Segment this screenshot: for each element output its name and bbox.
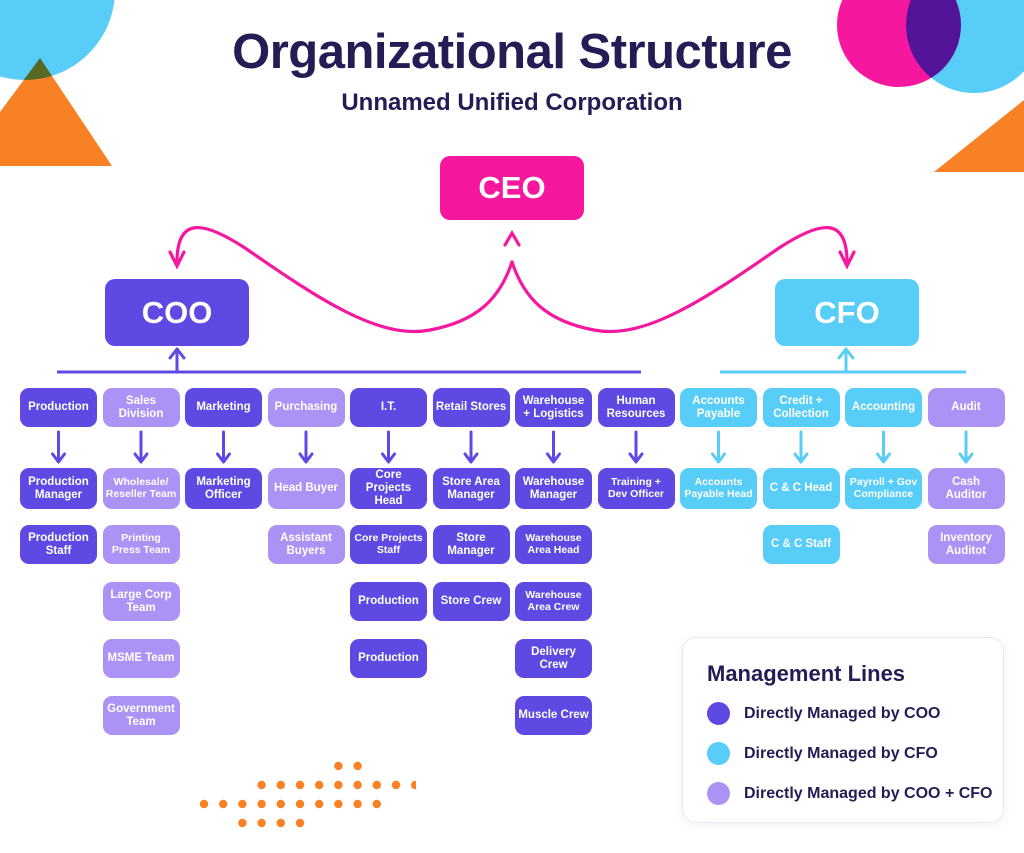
role-box[interactable]: Core Projects Head <box>350 468 427 509</box>
role-box[interactable]: Cash Auditor <box>928 468 1005 509</box>
ceo-to-coo-curve <box>177 228 512 332</box>
ceo-to-cfo-curve <box>512 228 847 332</box>
department-box[interactable]: Credit + Collection <box>763 388 840 427</box>
role-box[interactable]: Payroll + Gov Compliance <box>845 468 922 509</box>
decoration-dot <box>353 781 361 789</box>
role-box[interactable]: Large Corp Team <box>103 582 180 621</box>
decoration-dot <box>373 800 381 808</box>
decoration-dot <box>257 819 265 827</box>
decoration-dot <box>392 781 400 789</box>
role-box[interactable]: Production <box>350 639 427 678</box>
legend-panel: Management Lines Directly Managed by COO… <box>682 637 1004 823</box>
role-box[interactable]: Warehouse Manager <box>515 468 592 509</box>
legend-item-coo: Directly Managed by COO <box>707 702 941 725</box>
decoration-dot <box>277 800 285 808</box>
legend-item-cfo: Directly Managed by CFO <box>707 742 938 765</box>
role-box[interactable]: Printing Press Team <box>103 525 180 564</box>
role-box[interactable]: Government Team <box>103 696 180 735</box>
legend-item-both: Directly Managed by COO + CFO <box>707 782 993 805</box>
decoration-dot <box>334 762 342 770</box>
role-box[interactable]: Inventory Auditot <box>928 525 1005 564</box>
decoration-dot <box>296 781 304 789</box>
decoration-dot-cluster <box>196 758 416 834</box>
role-box[interactable]: Store Area Manager <box>433 468 510 509</box>
role-box[interactable]: Wholesale/ Reseller Team <box>103 468 180 509</box>
role-box[interactable]: Core Projects Staff <box>350 525 427 564</box>
decoration-dot <box>277 781 285 789</box>
role-box[interactable]: Store Crew <box>433 582 510 621</box>
role-box[interactable]: Delivery Crew <box>515 639 592 678</box>
decoration-dot <box>315 800 323 808</box>
decoration-dot <box>334 800 342 808</box>
executive-connector-pink <box>170 228 854 332</box>
legend-title: Management Lines <box>707 661 905 687</box>
decoration-dot <box>296 800 304 808</box>
legend-label-coo: Directly Managed by COO <box>744 705 941 723</box>
department-box[interactable]: Marketing <box>185 388 262 427</box>
role-box[interactable]: C & C Head <box>763 468 840 509</box>
role-box[interactable]: Marketing Officer <box>185 468 262 509</box>
decoration-dot <box>200 800 208 808</box>
decoration-dot <box>334 781 342 789</box>
department-box[interactable]: Human Resources <box>598 388 675 427</box>
legend-label-cfo: Directly Managed by CFO <box>744 745 938 763</box>
org-chart-canvas: Organizational Structure Unnamed Unified… <box>0 0 1024 853</box>
department-box[interactable]: Sales Division <box>103 388 180 427</box>
decoration-dot <box>296 819 304 827</box>
decoration-dot <box>238 800 246 808</box>
department-box[interactable]: Retail Stores <box>433 388 510 427</box>
decoration-dot <box>219 800 227 808</box>
role-box[interactable]: MSME Team <box>103 639 180 678</box>
decoration-dot <box>257 800 265 808</box>
role-box[interactable]: Production Manager <box>20 468 97 509</box>
role-box[interactable]: Muscle Crew <box>515 696 592 735</box>
legend-color-swatch-cfo <box>707 742 730 765</box>
decoration-dot <box>238 819 246 827</box>
role-box[interactable]: Warehouse Area Head <box>515 525 592 564</box>
legend-color-swatch-coo <box>707 702 730 725</box>
decoration-dot <box>353 800 361 808</box>
decoration-dot <box>373 781 381 789</box>
department-box[interactable]: Accounting <box>845 388 922 427</box>
role-box[interactable]: C & C Staff <box>763 525 840 564</box>
decoration-dot <box>257 781 265 789</box>
legend-label-both: Directly Managed by COO + CFO <box>744 785 993 803</box>
role-box[interactable]: Assistant Buyers <box>268 525 345 564</box>
department-box[interactable]: Accounts Payable <box>680 388 757 427</box>
department-box[interactable]: Warehouse + Logistics <box>515 388 592 427</box>
role-box[interactable]: Accounts Payable Head <box>680 468 757 509</box>
department-box[interactable]: Audit <box>928 388 1005 427</box>
role-box[interactable]: Production Staff <box>20 525 97 564</box>
column-arrows <box>53 432 973 462</box>
decoration-dot <box>411 781 416 789</box>
department-box[interactable]: Purchasing <box>268 388 345 427</box>
role-box[interactable]: Production <box>350 582 427 621</box>
role-box[interactable]: Training + Dev Officer <box>598 468 675 509</box>
role-box[interactable]: Warehouse Area Crew <box>515 582 592 621</box>
role-box[interactable]: Store Manager <box>433 525 510 564</box>
department-bus-lines <box>57 349 966 372</box>
decoration-dot <box>277 819 285 827</box>
department-box[interactable]: Production <box>20 388 97 427</box>
role-box[interactable]: Head Buyer <box>268 468 345 509</box>
legend-color-swatch-both <box>707 782 730 805</box>
decoration-dot <box>315 781 323 789</box>
decoration-dot <box>353 762 361 770</box>
department-box[interactable]: I.T. <box>350 388 427 427</box>
ceo-up-arrowhead <box>505 233 519 245</box>
